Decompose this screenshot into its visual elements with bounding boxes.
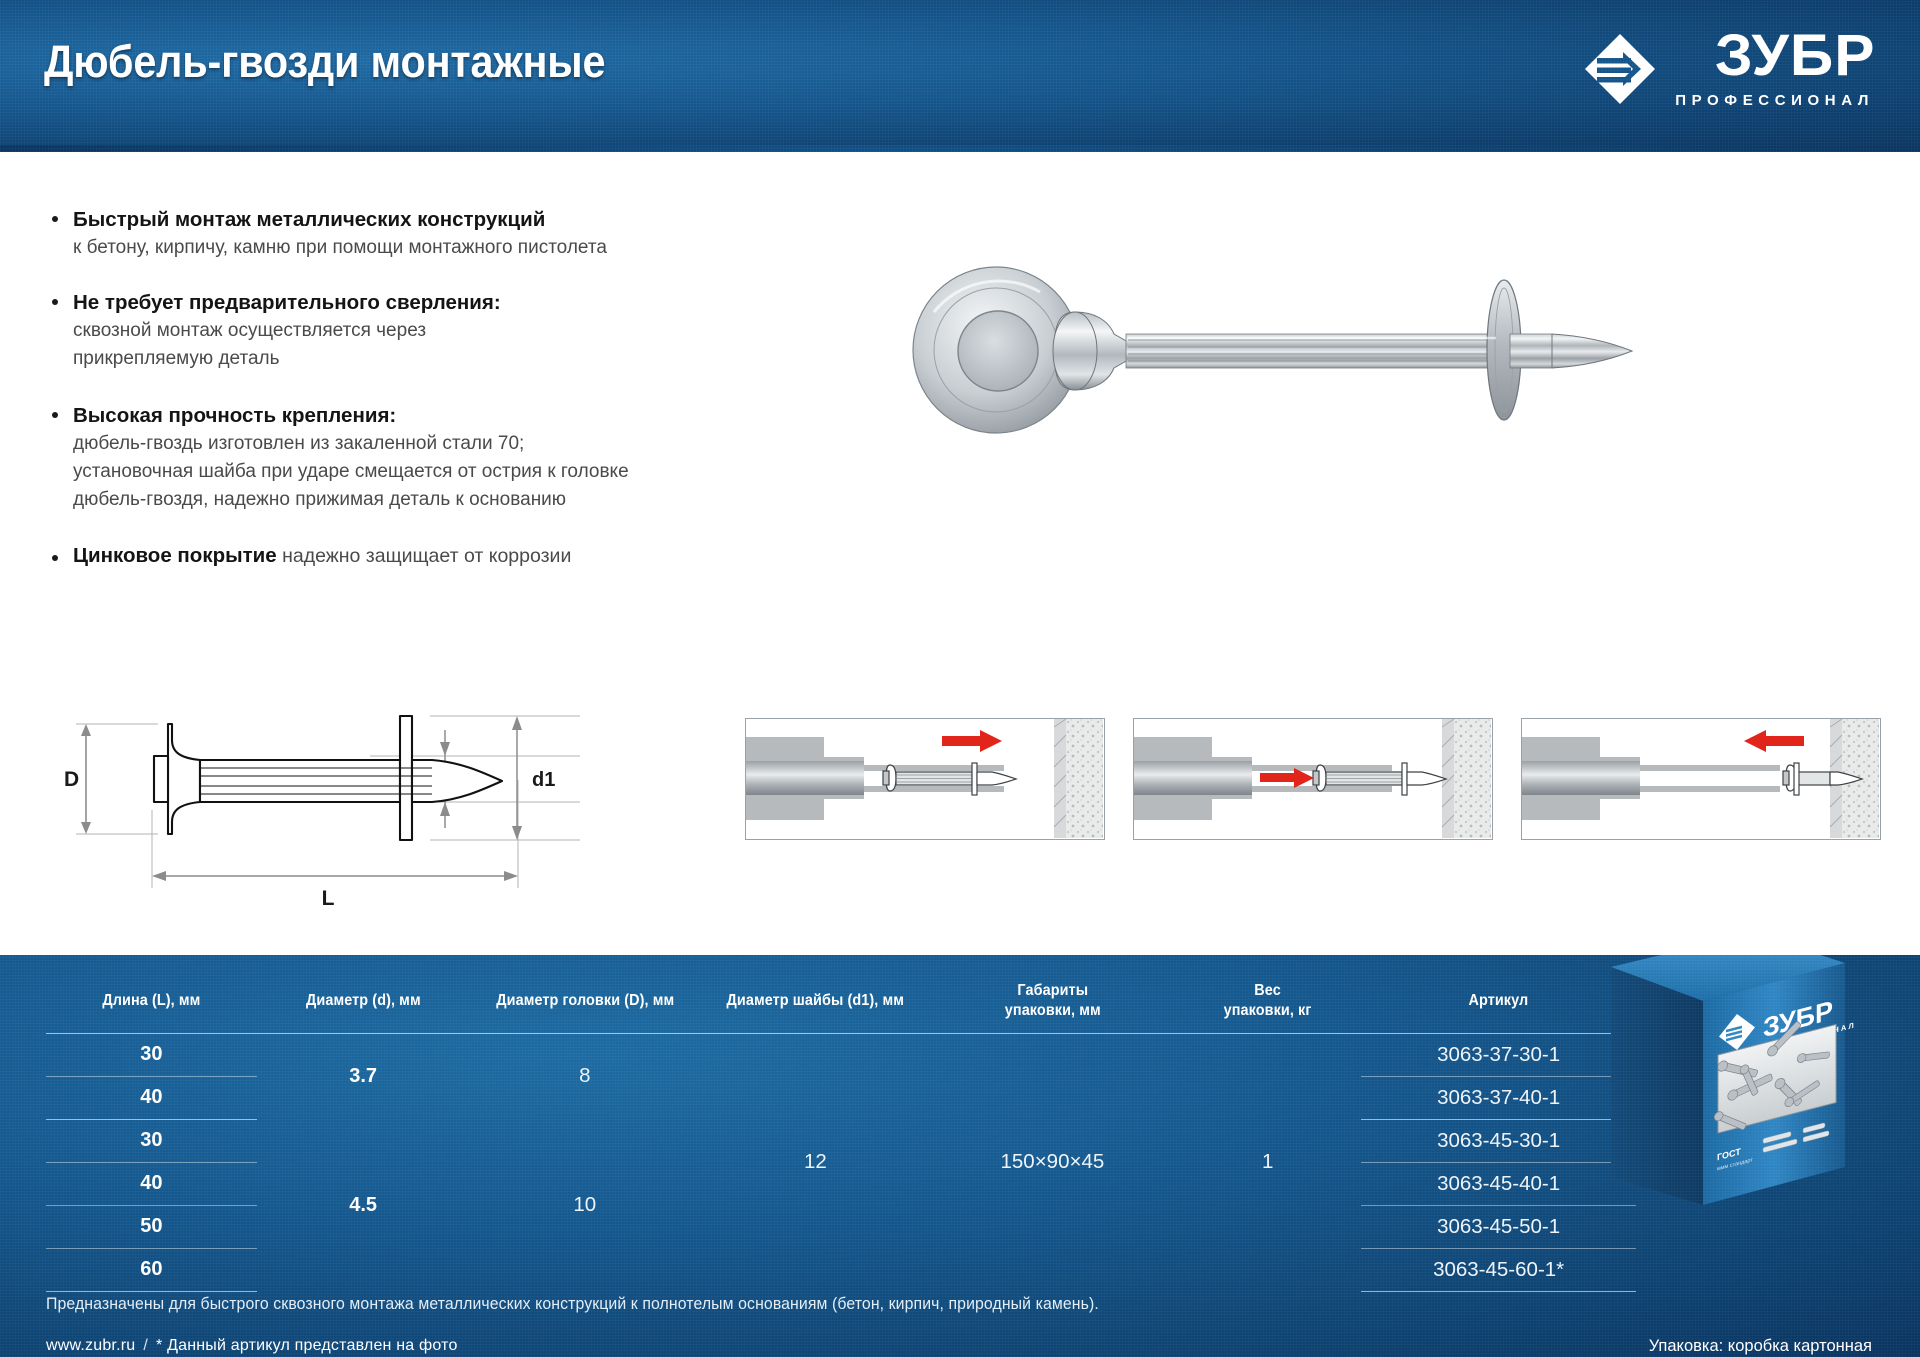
- feature-body: надежно защищает от коррозии: [277, 545, 572, 567]
- dowel-nail: [1053, 280, 1632, 420]
- cell-length: 40: [46, 1162, 257, 1205]
- technical-drawing: D d d1 L: [40, 700, 620, 930]
- product-datasheet: Дюбель-гвозди монтажные ЗУБР ПРОФЕССИОНА…: [0, 0, 1920, 1357]
- bullet-icon: [52, 299, 58, 305]
- asterisk-note: * Данный артикул представлен на фото: [156, 1337, 458, 1354]
- cell-washer-diam: 12: [700, 1033, 931, 1291]
- feature-body: сквозной монтаж осуществляется через при…: [73, 317, 808, 373]
- package-box-photo: ЗУБР ПРОФЕССИОНАЛ: [1583, 955, 1868, 1235]
- cell-head-diam: 10: [470, 1119, 701, 1291]
- cell-length: 30: [46, 1033, 257, 1076]
- specs-panel: Длина (L), мм Диаметр (d), мм Диаметр го…: [0, 955, 1920, 1357]
- website-link[interactable]: www.zubr.ru: [46, 1337, 135, 1354]
- bullet-icon: [52, 216, 58, 222]
- install-step-1: [745, 718, 1105, 840]
- page-header: Дюбель-гвозди монтажные ЗУБР ПРОФЕССИОНА…: [0, 0, 1920, 152]
- feature-body: дюбель-гвоздь изготовлен из закаленной с…: [73, 430, 808, 514]
- bullet-icon: [52, 412, 58, 418]
- product-photo: [870, 250, 1870, 450]
- th-pack-weight: Вес упаковки, кг: [1181, 975, 1355, 1033]
- footer-left: www.zubr.ru/* Данный артикул представлен…: [46, 1337, 458, 1355]
- brand-logo: ЗУБР ПРОФЕССИОНАЛ: [1583, 28, 1876, 109]
- specs-table: Длина (L), мм Диаметр (d), мм Диаметр го…: [46, 975, 1636, 1292]
- feature-item-3: Высокая прочность крепления: дюбель-гвоз…: [48, 401, 808, 514]
- brand-subtitle: ПРОФЕССИОНАЛ: [1675, 92, 1874, 109]
- table-header-row: Длина (L), мм Диаметр (d), мм Диаметр го…: [46, 975, 1636, 1033]
- th-diameter: Диаметр (d), мм: [264, 975, 462, 1033]
- feature-heading: Цинковое покрытие: [73, 544, 277, 567]
- cell-diameter: 3.7: [257, 1033, 470, 1119]
- feature-inline-line: Цинковое покрытие надежно защищает от ко…: [73, 544, 808, 568]
- feature-heading: Не требует предварительного сверления:: [73, 288, 808, 317]
- footer-separator: /: [143, 1337, 148, 1354]
- dim-label-D: D: [64, 768, 79, 791]
- page-title: Дюбель-гвозди монтажные: [44, 36, 605, 88]
- feature-heading: Быстрый монтаж металлических конструкций: [73, 205, 808, 234]
- feature-body: к бетону, кирпичу, камню при помощи монт…: [73, 234, 808, 262]
- cell-length: 50: [46, 1205, 257, 1248]
- cell-length: 60: [46, 1248, 257, 1291]
- cell-article: 3063-45-60-1*: [1361, 1248, 1636, 1291]
- cell-diameter: 4.5: [257, 1119, 470, 1291]
- cell-head-diam: 8: [470, 1033, 701, 1119]
- th-length: Длина (L), мм: [53, 975, 249, 1033]
- brand-name: ЗУБР: [1715, 28, 1876, 83]
- cell-length: 30: [46, 1119, 257, 1162]
- feature-item-2: Не требует предварительного сверления: с…: [48, 288, 808, 373]
- feature-item-1: Быстрый монтаж металлических конструкций…: [48, 205, 808, 262]
- dim-label-L: L: [322, 887, 335, 910]
- feature-item-4: Цинковое покрытие надежно защищает от ко…: [48, 544, 808, 568]
- cell-pack-weight: 1: [1174, 1033, 1361, 1291]
- cell-length: 40: [46, 1076, 257, 1119]
- install-step-3: [1521, 718, 1881, 840]
- usage-note: Предназначены для быстрого сквозного мон…: [46, 1295, 1099, 1314]
- bullet-icon: [52, 555, 58, 561]
- feature-heading: Высокая прочность крепления:: [73, 401, 808, 430]
- table-row: 30 3.7 8 12 150×90×45 1 3063-37-30-1: [46, 1033, 1636, 1076]
- th-head-diam: Диаметр головки (D), мм: [478, 975, 692, 1033]
- install-step-2: [1133, 718, 1493, 840]
- installation-steps: [745, 718, 1881, 840]
- th-washer-diam: Диаметр шайбы (d1), мм: [708, 975, 922, 1033]
- dim-label-d1: d1: [532, 769, 555, 791]
- th-pack-dims: Габариты упаковки, мм: [939, 975, 1165, 1033]
- packaging-note: Упаковка: коробка картонная: [1649, 1337, 1872, 1356]
- feature-list: Быстрый монтаж металлических конструкций…: [48, 205, 808, 568]
- cell-pack-dims: 150×90×45: [931, 1033, 1175, 1291]
- zubr-diamond-icon: [1583, 32, 1657, 106]
- header-bottom-accent: [0, 145, 1920, 152]
